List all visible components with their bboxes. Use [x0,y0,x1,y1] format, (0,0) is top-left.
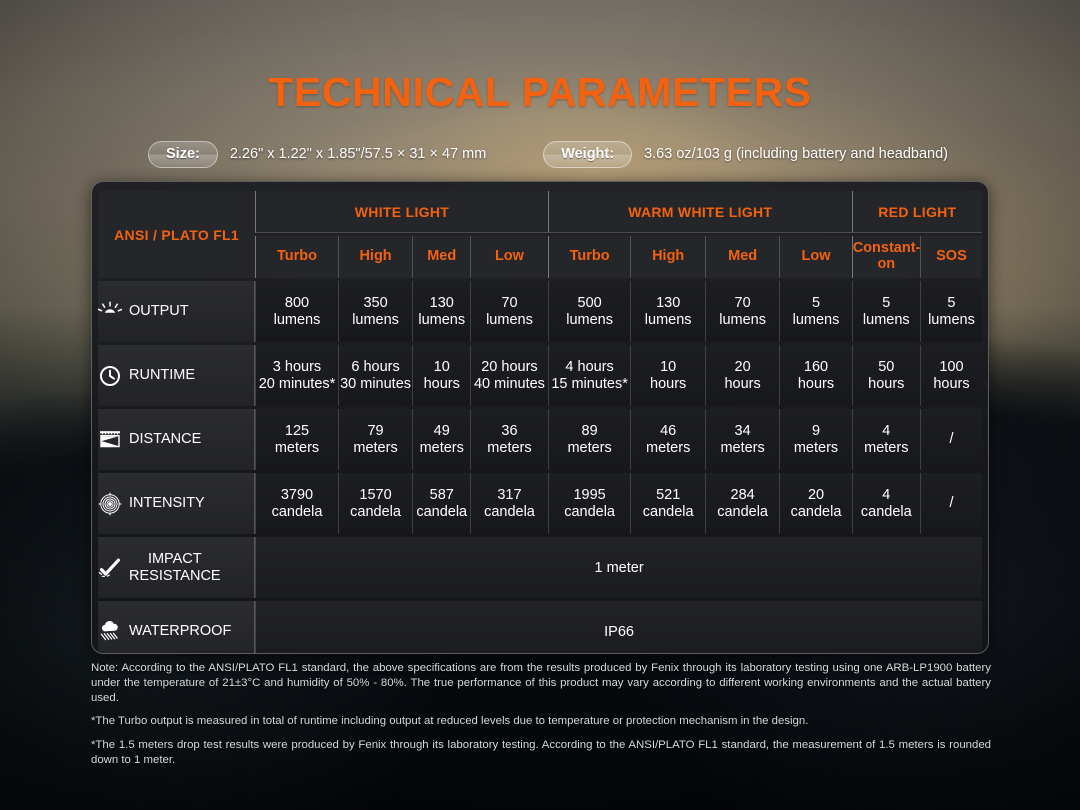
cell-value-unit: lumens [631,312,704,328]
cell-distance-red-sos: / [920,409,982,470]
row-label-distance: DISTANCE [98,409,255,470]
cell-runtime-white-low: 20 hours40 minutes [470,345,548,406]
mode-white-low: Low [470,236,548,278]
mode-warm-high: High [630,236,704,278]
cell-value-primary: 521 [631,487,704,503]
cell-distance-red-constant-on: 4meters [852,409,920,470]
cell-runtime-warm-high: 10hours [630,345,704,406]
cell-intensity-white-med: 587candela [412,473,470,534]
table-row: IMPACTRESISTANCE 1 meter [98,537,982,598]
cell-intensity-white-turbo: 3790candela [255,473,338,534]
cell-value-unit: lumens [256,312,338,328]
cell-value-unit: 20 minutes* [256,376,338,392]
header-corner-label: ANSI / PLATO FL1 [98,191,255,278]
cell-value-unit: hours [921,376,982,392]
cell-intensity-red-sos: / [920,473,982,534]
group-header-red-light: RED LIGHT [852,191,982,233]
table-row: OUTPUT 800lumens 350lumens 130lumens 70l… [98,281,982,342]
cell-output-white-low: 70lumens [470,281,548,342]
cell-value-unit: lumens [853,312,920,328]
table-body: OUTPUT 800lumens 350lumens 130lumens 70l… [98,281,982,654]
cell-output-white-high: 350lumens [338,281,412,342]
cell-value-unit: hours [413,376,470,392]
cell-value-unit: candela [339,504,412,520]
cell-distance-white-turbo: 125meters [255,409,338,470]
footer-notes: Note: According to the ANSI/PLATO FL1 st… [91,661,991,768]
cell-value-primary: 10 [413,359,470,375]
cell-intensity-warm-turbo: 1995candela [548,473,631,534]
cell-value-unit: candela [413,504,470,520]
cell-output-warm-med: 70lumens [705,281,779,342]
cell-value-primary: 4 [853,487,920,503]
row-label-text: INTENSITY [129,495,205,511]
cell-impact-resistance-value: 1 meter [255,537,982,598]
cell-value-unit: lumens [413,312,470,328]
cell-value-primary: 9 [780,423,851,439]
cell-value-unit: candela [853,504,920,520]
cell-value-primary: 3790 [256,487,338,503]
row-label-impact-resistance: IMPACTRESISTANCE [98,537,255,598]
cell-value-primary: 34 [706,423,779,439]
weight-value: 3.63 oz/103 g (including battery and hea… [644,146,948,162]
cell-value-unit: hours [780,376,851,392]
cell-runtime-warm-low: 160hours [779,345,851,406]
row-label-text: DISTANCE [129,431,201,447]
row-label-text: IMPACTRESISTANCE [129,551,221,583]
cell-value-unit: lumens [339,312,412,328]
cell-value-unit: meters [780,440,851,456]
cell-value-primary: 500 [549,295,631,311]
group-header-white-light: WHITE LIGHT [255,191,548,233]
row-label-text: RUNTIME [129,367,195,383]
cell-value-unit: hours [631,376,704,392]
cell-runtime-red-constant-on: 50hours [852,345,920,406]
clock-icon [98,364,122,388]
cell-value-primary: 284 [706,487,779,503]
cell-value-primary: 160 [780,359,851,375]
cell-value-primary: 1995 [549,487,631,503]
note-drop-test: *The 1.5 meters drop test results were p… [91,738,991,768]
group-header-warm-white-light: WARM WHITE LIGHT [548,191,852,233]
header-group-row: ANSI / PLATO FL1 WHITE LIGHT WARM WHITE … [98,191,982,233]
cell-value-unit: meters [413,440,470,456]
cell-distance-white-med: 49meters [412,409,470,470]
cell-value-primary: 125 [256,423,338,439]
mode-warm-turbo: Turbo [548,236,631,278]
cell-runtime-warm-med: 20hours [705,345,779,406]
row-label-text: WATERPROOF [129,623,231,639]
table-row: INTENSITY 3790candela 1570candela 587can… [98,473,982,534]
cell-value-unit: meters [549,440,631,456]
cell-distance-white-low: 36meters [470,409,548,470]
row-label-line2: RESISTANCE [129,568,221,584]
cell-value-primary: 50 [853,359,920,375]
cell-distance-warm-turbo: 89meters [548,409,631,470]
table-row: WATERPROOF IP66 [98,601,982,654]
cell-intensity-warm-med: 284candela [705,473,779,534]
cell-distance-warm-low: 9meters [779,409,851,470]
cell-value-primary: 10 [631,359,704,375]
cell-value-unit: hours [706,376,779,392]
row-label-text: OUTPUT [129,303,189,319]
specifications-table: ANSI / PLATO FL1 WHITE LIGHT WARM WHITE … [98,188,982,654]
cell-value-primary: 5 [921,295,982,311]
cell-value-unit: 30 minutes [339,376,412,392]
cell-value-unit: lumens [780,312,851,328]
cell-value-primary: 20 [780,487,851,503]
cell-output-red-sos: 5lumens [920,281,982,342]
cell-value-primary: 70 [471,295,548,311]
mode-red-constant-on: Constant-on [852,236,920,278]
cell-distance-white-high: 79meters [338,409,412,470]
cell-value-unit: lumens [921,312,982,328]
cell-value-unit: meters [471,440,548,456]
meta-row: Size: 2.26" x 1.22" x 1.85"/57.5 × 31 × … [148,139,948,169]
cell-intensity-red-constant-on: 4candela [852,473,920,534]
cell-intensity-warm-high: 521candela [630,473,704,534]
cell-value-unit: 40 minutes [471,376,548,392]
cell-value-unit: candela [256,504,338,520]
row-label-output: OUTPUT [98,281,255,342]
sunburst-icon [98,300,122,324]
mode-white-turbo: Turbo [255,236,338,278]
cell-value-primary: 4 hours [549,359,631,375]
cell-waterproof-value: IP66 [255,601,982,654]
row-label-waterproof: WATERPROOF [98,601,255,654]
cell-output-red-constant-on: 5lumens [852,281,920,342]
cell-value-unit: meters [853,440,920,456]
cell-value-primary: 70 [706,295,779,311]
table-header: ANSI / PLATO FL1 WHITE LIGHT WARM WHITE … [98,191,982,278]
cell-value-primary: 4 [853,423,920,439]
page-title: TECHNICAL PARAMETERS [0,69,1080,116]
specifications-panel: ANSI / PLATO FL1 WHITE LIGHT WARM WHITE … [91,181,989,654]
cell-value-unit: meters [706,440,779,456]
cell-value-unit: meters [631,440,704,456]
cell-value-primary: 130 [413,295,470,311]
cell-value-unit: candela [780,504,851,520]
cell-output-warm-turbo: 500lumens [548,281,631,342]
table-row: RUNTIME 3 hours20 minutes* 6 hours30 min… [98,345,982,406]
cell-value-unit: candela [631,504,704,520]
cell-value-unit: lumens [706,312,779,328]
cell-intensity-white-high: 1570candela [338,473,412,534]
cell-distance-warm-med: 34meters [705,409,779,470]
note-turbo-output: *The Turbo output is measured in total o… [91,714,991,729]
cell-value-primary: 49 [413,423,470,439]
beam-distance-icon [98,428,122,452]
cell-value-primary: 100 [921,359,982,375]
row-label-runtime: RUNTIME [98,345,255,406]
impact-check-icon [98,556,122,580]
cell-value-primary: 800 [256,295,338,311]
cell-output-warm-low: 5lumens [779,281,851,342]
cell-value-primary: 20 [706,359,779,375]
cell-value-unit: lumens [471,312,548,328]
table-row: DISTANCE 125meters 79meters 49meters 36m… [98,409,982,470]
cell-value-primary: 350 [339,295,412,311]
cell-value-unit: candela [706,504,779,520]
cell-value-primary: 79 [339,423,412,439]
cell-runtime-white-high: 6 hours30 minutes [338,345,412,406]
cell-runtime-white-med: 10hours [412,345,470,406]
cell-value-primary: 130 [631,295,704,311]
note-ansi-standard: Note: According to the ANSI/PLATO FL1 st… [91,661,991,705]
cell-value-primary: 1570 [339,487,412,503]
cell-intensity-white-low: 317candela [470,473,548,534]
mode-warm-med: Med [705,236,779,278]
cell-value-primary: / [921,495,982,511]
cell-value-unit: lumens [549,312,631,328]
cell-value-primary: 3 hours [256,359,338,375]
row-label-intensity: INTENSITY [98,473,255,534]
mode-warm-low: Low [779,236,851,278]
cell-value-primary: 46 [631,423,704,439]
cell-value-unit: 15 minutes* [549,376,631,392]
row-label-line1: IMPACT [148,551,202,567]
cell-value-primary: 6 hours [339,359,412,375]
cell-intensity-warm-low: 20candela [779,473,851,534]
cell-value-primary: 36 [471,423,548,439]
cell-value-primary: 5 [780,295,851,311]
mode-red-sos: SOS [920,236,982,278]
cell-value-primary: 317 [471,487,548,503]
cell-value-primary: 5 [853,295,920,311]
cell-value-unit: candela [471,504,548,520]
cell-value-primary: 89 [549,423,631,439]
target-icon [98,492,122,516]
cell-value-unit: hours [853,376,920,392]
size-label-pill: Size: [148,141,218,168]
cell-runtime-red-sos: 100hours [920,345,982,406]
size-value: 2.26" x 1.22" x 1.85"/57.5 × 31 × 47 mm [230,146,486,162]
cell-value-unit: meters [256,440,338,456]
mode-white-high: High [338,236,412,278]
rain-cloud-icon [98,620,122,644]
weight-label-pill: Weight: [543,141,632,168]
cell-value-primary: 20 hours [471,359,548,375]
cell-output-warm-high: 130lumens [630,281,704,342]
cell-value-unit: meters [339,440,412,456]
spec-sheet-page: TECHNICAL PARAMETERS Size: 2.26" x 1.22"… [0,0,1080,810]
cell-runtime-warm-turbo: 4 hours15 minutes* [548,345,631,406]
cell-value-primary: 587 [413,487,470,503]
mode-white-med: Med [412,236,470,278]
cell-runtime-white-turbo: 3 hours20 minutes* [255,345,338,406]
cell-value-unit: candela [549,504,631,520]
cell-value-primary: / [921,431,982,447]
cell-distance-warm-high: 46meters [630,409,704,470]
cell-output-white-med: 130lumens [412,281,470,342]
cell-output-white-turbo: 800lumens [255,281,338,342]
